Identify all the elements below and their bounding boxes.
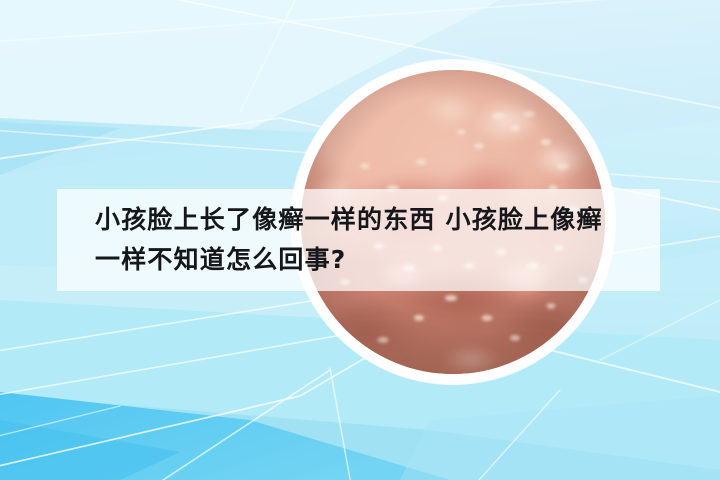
thumbnail-canvas: 小孩脸上长了像癣一样的东西 小孩脸上像癣 一样不知道怎么回事? (0, 0, 720, 480)
page-title: 小孩脸上长了像癣一样的东西 小孩脸上像癣 一样不知道怎么回事? (95, 200, 655, 280)
page-title-line-1: 小孩脸上长了像癣一样的东西 小孩脸上像癣 (95, 200, 655, 240)
page-title-line-2: 一样不知道怎么回事? (95, 240, 655, 280)
